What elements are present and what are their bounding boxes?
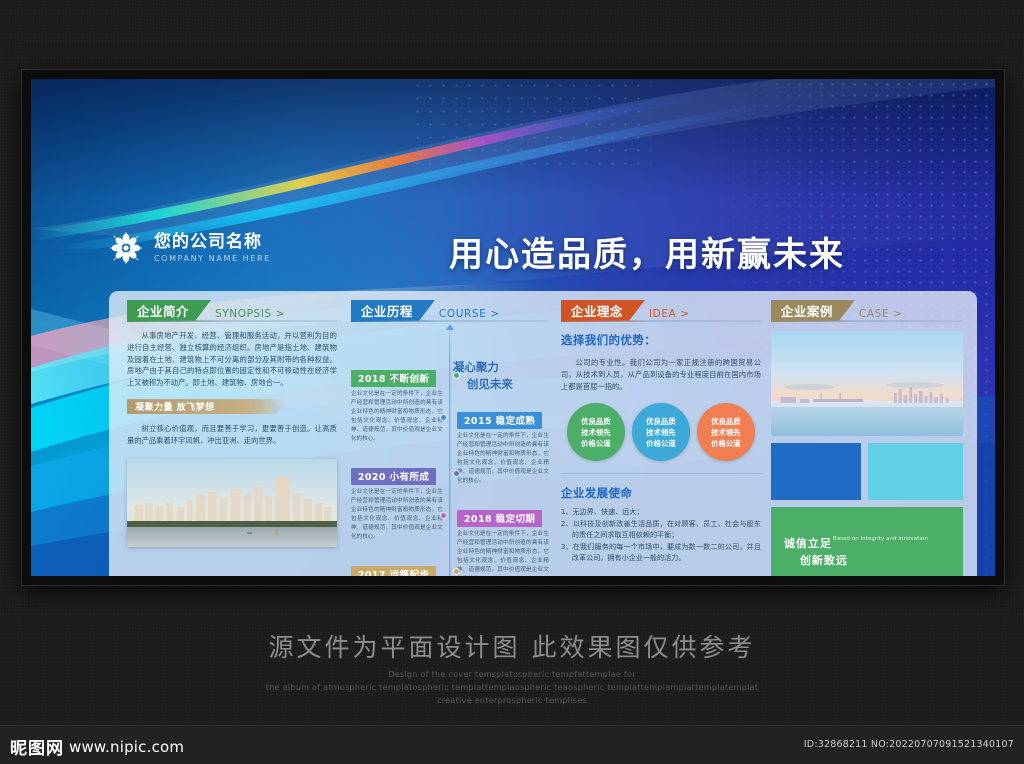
timeline-item: 2018 稳定切期企业文化是在一定的条件下，企业生产经营和管理活动中所创造的具有… bbox=[457, 507, 549, 576]
idea-circle-line: 优良品质 bbox=[711, 416, 741, 427]
timeline-year-badge: 2017 运筹起步 bbox=[351, 566, 436, 577]
idea-circle-line: 技术领先 bbox=[646, 427, 676, 438]
poster-headline: 用心造品质，用新赢未来 bbox=[449, 227, 845, 276]
timeline-slogan-line2: 创见未来 bbox=[453, 376, 549, 393]
idea-heading-values: 企业发展价值观 bbox=[561, 575, 761, 576]
timeline-slogan: 凝心聚力 创见未来 bbox=[453, 359, 549, 392]
caption-cn: 源文件为平面设计图 此效果图仅供参考 bbox=[0, 628, 1024, 664]
idea-circle: 优良品质技术领先价格公道 bbox=[632, 403, 690, 461]
idea-circle-line: 优良品质 bbox=[646, 416, 676, 427]
idea-circle-line: 优良品质 bbox=[581, 416, 611, 427]
panel-case: 企业案例 CASE > bbox=[767, 300, 967, 576]
caption-en: Design of the cover temsplatospheric tem… bbox=[0, 668, 1024, 708]
idea-circle-line: 技术领先 bbox=[711, 427, 741, 438]
case-slogan-en: Based on integrity and innovation bbox=[833, 535, 928, 543]
company-name-cn: 您的公司名称 bbox=[154, 233, 271, 253]
panel-synopsis-rule bbox=[127, 320, 337, 322]
panel-case-tab-cn[interactable]: 企业案例 bbox=[771, 300, 855, 321]
case-block-blue bbox=[771, 443, 861, 500]
idea-circle-line: 价格公道 bbox=[581, 438, 611, 449]
timeline-item: 2015 稳定成熟企业文化是在一定的条件下，企业生产经营和管理活动中所创造的具有… bbox=[457, 409, 549, 486]
timeline-item: 2020 小有所成企业文化是在一定的条件下，企业生产经营和管理活动中所创造的具有… bbox=[351, 465, 443, 542]
synopsis-subhead: 凝聚力量 放飞梦想 bbox=[127, 399, 287, 414]
case-photo bbox=[771, 331, 963, 436]
idea-circle: 优良品质技术领先价格公道 bbox=[697, 403, 755, 461]
asset-id-meta: ID:32868211 NO:20220707091521340107 bbox=[804, 739, 1014, 750]
idea-circle: 优良品质技术领先价格公道 bbox=[567, 403, 625, 461]
case-slogan-line1: 诚信立足 bbox=[784, 535, 832, 551]
site-footer: 昵图网 www.nipic.com ID:32868211 NO:2022070… bbox=[0, 725, 1024, 764]
idea-heading-mission: 企业发展使命 bbox=[561, 485, 761, 501]
panel-synopsis-tab-cn[interactable]: 企业简介 bbox=[127, 300, 211, 321]
timeline-dot-icon bbox=[453, 372, 460, 379]
timeline: 凝心聚力 创见未来 2018 不断创新企业文化是在一定的条件下，企业生产经营和管… bbox=[351, 329, 549, 576]
idea-circle-line: 价格公道 bbox=[711, 438, 741, 449]
poster-canvas: 您的公司名称 COMPANY NAME HERE 用心造品质，用新赢未来 企业简… bbox=[31, 79, 995, 576]
timeline-year-badge: 2020 小有所成 bbox=[351, 468, 436, 486]
timeline-year-badge: 2015 稳定成熟 bbox=[457, 412, 542, 430]
idea-circle-group: 优良品质技术领先价格公道优良品质技术领先价格公道优良品质技术领先价格公道 bbox=[561, 403, 761, 461]
timeline-item: 2017 运筹起步企业文化是在一定的条件下，企业生产经营和管理活动中所创造的具有… bbox=[351, 563, 443, 576]
timeline-description: 企业文化是在一定的条件下，企业生产经营和管理活动中所创造的具有该企业特色的精神财… bbox=[457, 432, 549, 486]
caption-en-line1: Design of the cover temsplatospheric tem… bbox=[0, 668, 1024, 681]
panel-synopsis-header: 企业简介 SYNOPSIS > bbox=[127, 300, 337, 321]
synopsis-body: 从事房地产开发、经营、管理和服务活动，并以营利为目的进行自主经营、独立核算的经济… bbox=[127, 330, 337, 389]
case-slogan-line2: 创新致远 bbox=[800, 552, 848, 568]
case-block-green: 诚信立足 创新致远 Based on integrity and innovat… bbox=[771, 507, 963, 576]
panel-idea-rule bbox=[561, 320, 761, 322]
company-logo[interactable]: 您的公司名称 COMPANY NAME HERE bbox=[109, 231, 271, 265]
synopsis-body-2: 树立核心价值观，而且要善于学习，更要善于创造。让高质量的产品乘着环宇风帆，冲出亚… bbox=[127, 423, 337, 447]
timeline-slogan-line1: 凝心聚力 bbox=[453, 359, 549, 376]
brand-name-cn: 昵图网 bbox=[10, 734, 64, 759]
timeline-description: 企业文化是在一定的条件下，企业生产经营和管理活动中所创造的具有该企业特色的精神财… bbox=[351, 390, 443, 444]
idea-heading-advantage: 选择我们的优势： bbox=[561, 332, 761, 348]
timeline-arrow-icon bbox=[446, 324, 454, 330]
timeline-description: 企业文化是在一定的条件下，企业生产经营和管理活动中所创造的具有该企业特色的精神财… bbox=[351, 488, 443, 542]
timeline-dot-icon bbox=[440, 512, 447, 519]
timeline-year-badge: 2018 稳定切期 bbox=[457, 510, 542, 528]
panel-synopsis: 企业简介 SYNOPSIS > 从事房地产开发、经营、管理和服务活动，并以营利为… bbox=[119, 300, 345, 576]
case-block-cyan bbox=[868, 443, 963, 500]
idea-mission-item: 3、在我们服务的每一个市场中，要成为数一数二的公司，并且改革公司，拥有小企业一般… bbox=[561, 541, 761, 564]
panel-course-header: 企业历程 COURSE > bbox=[351, 300, 549, 321]
timeline-dot-icon bbox=[440, 414, 447, 421]
site-brand[interactable]: 昵图网 www.nipic.com bbox=[10, 734, 184, 759]
caption-en-line2: the album of atmospheric templatospheric… bbox=[0, 681, 1024, 694]
ribbon-top-decoration bbox=[31, 79, 995, 249]
idea-advantage-body: 公司的专业性。我们公司为一家正规注册的跨国贸易公司，从技术到人员，从产品到设备的… bbox=[561, 357, 761, 392]
timeline-year-badge: 2018 不断创新 bbox=[351, 370, 436, 388]
panel-course: 企业历程 COURSE > 凝心聚力 创见未来 2018 不断创新企业文化是在一… bbox=[345, 300, 555, 576]
brand-url[interactable]: www.nipic.com bbox=[69, 738, 184, 756]
poster-frame: 您的公司名称 COMPANY NAME HERE 用心造品质，用新赢未来 企业简… bbox=[22, 70, 1004, 585]
synopsis-photo bbox=[127, 459, 337, 547]
idea-mission-list: 1、无边界、快速、远大；2、以科技及创新改善生活品质，在对顾客、员工、社会与股东… bbox=[561, 506, 761, 563]
panel-idea-tab-cn[interactable]: 企业理念 bbox=[561, 300, 645, 321]
case-block-row bbox=[771, 443, 963, 500]
idea-circle-line: 技术领先 bbox=[581, 427, 611, 438]
timeline-item: 2018 不断创新企业文化是在一定的条件下，企业生产经营和管理活动中所创造的具有… bbox=[351, 367, 443, 444]
panel-case-header: 企业案例 CASE > bbox=[771, 300, 963, 321]
panel-idea: 企业理念 IDEA > 选择我们的优势： 公司的专业性。我们公司为一家正规注册的… bbox=[555, 300, 767, 576]
timeline-axis bbox=[449, 329, 451, 576]
timeline-description: 企业文化是在一定的条件下，企业生产经营和管理活动中所创造的具有该企业特色的精神财… bbox=[457, 530, 549, 576]
timeline-dot-icon bbox=[453, 470, 460, 477]
idea-mission-item: 1、无边界、快速、远大； bbox=[561, 506, 761, 517]
idea-mission-item: 2、以科技及创新改善生活品质，在对顾客、员工、社会与股东的责任之间求取互相依赖的… bbox=[561, 518, 761, 541]
flower-logo-icon bbox=[109, 231, 143, 265]
company-name-en: COMPANY NAME HERE bbox=[154, 254, 271, 263]
panel-course-rule bbox=[351, 320, 549, 322]
panel-case-rule bbox=[771, 320, 963, 322]
idea-divider bbox=[561, 473, 761, 474]
content-board: 企业简介 SYNOPSIS > 从事房地产开发、经营、管理和服务活动，并以营利为… bbox=[109, 291, 977, 576]
caption-en-line3: creative enterprospheric templises bbox=[0, 694, 1024, 707]
panel-course-tab-cn[interactable]: 企业历程 bbox=[351, 300, 435, 321]
timeline-dot-icon bbox=[453, 568, 460, 575]
panel-idea-header: 企业理念 IDEA > bbox=[561, 300, 761, 321]
idea-circle-line: 价格公道 bbox=[646, 438, 676, 449]
